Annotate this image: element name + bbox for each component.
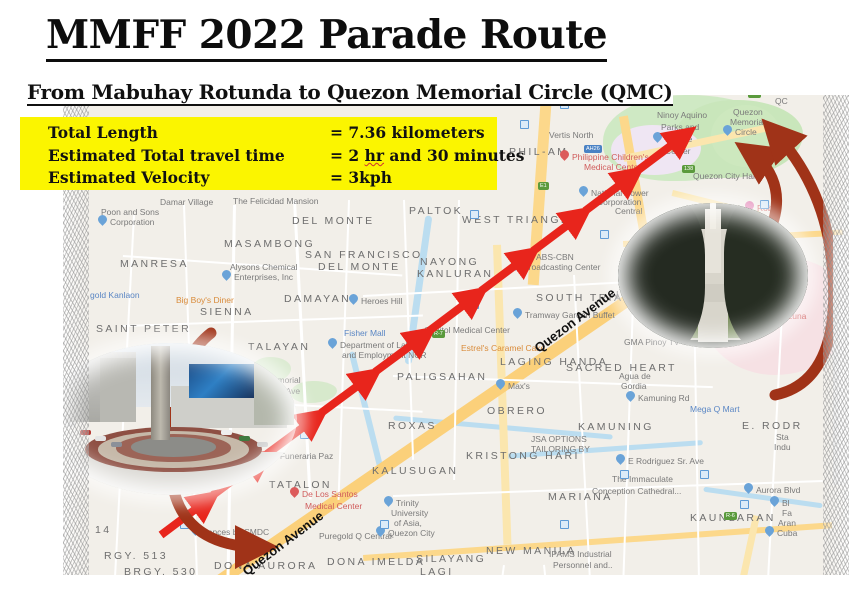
map-route-shield: 170 (748, 95, 761, 98)
stat-value: = 7.36 kilometers (330, 123, 485, 142)
map-transit-square-icon[interactable] (470, 210, 479, 219)
page-title: MMFF 2022 Parade Route (46, 12, 607, 62)
map-transit-square-icon[interactable] (520, 120, 529, 129)
stat-label: Estimated Velocity (48, 168, 209, 187)
stat-label: Estimated Total travel time (48, 146, 285, 165)
map-route-shield: R-7 (432, 330, 445, 338)
map-transit-square-icon[interactable] (700, 470, 709, 479)
street (123, 255, 402, 277)
stat-value-pre: = 2 (330, 146, 365, 165)
street (393, 375, 713, 388)
park-green-small-1 (291, 381, 337, 403)
map-transit-square-icon[interactable] (420, 330, 429, 339)
map-transit-square-icon[interactable] (740, 500, 749, 509)
photo-quezon-memorial-circle (618, 203, 808, 348)
map-transit-square-icon[interactable] (300, 430, 309, 439)
stat-value-post: and 30 minutes (384, 146, 524, 165)
page-subtitle: From Mabuhay Rotunda to Quezon Memorial … (27, 80, 673, 106)
infographic-root: MANRESAMASAMBONGDEL MONTESAN FRANCISCODE… (0, 0, 866, 591)
stat-value-squiggle: hr (365, 146, 384, 165)
road-e-rodriguez (363, 522, 832, 561)
map-route-shield: 138 (682, 165, 695, 173)
creek-5 (703, 487, 823, 509)
map-transit-square-icon[interactable] (620, 470, 629, 479)
stat-row: Estimated Velocity = 3kph (48, 168, 491, 190)
map-route-shield: R-6 (724, 512, 737, 520)
map-route-shield: AH26 (584, 145, 602, 153)
street (123, 315, 423, 327)
stat-value: = 3kph (330, 168, 392, 187)
map-overlay-panel (833, 235, 849, 485)
stat-value: = 2 hr and 30 minutes (330, 146, 525, 165)
map-route-shield: E1 (538, 182, 549, 190)
map-transit-square-icon[interactable] (380, 520, 389, 529)
road-aurora-blvd (720, 515, 760, 575)
stat-row: Estimated Total travel time = 2 hr and 3… (48, 146, 491, 168)
stat-label: Total Length (48, 123, 158, 142)
street (543, 565, 556, 575)
route-stats-box: Total Length = 7.36 kilometers Estimated… (20, 117, 497, 190)
map-transit-square-icon[interactable] (180, 520, 189, 529)
map-transit-square-icon[interactable] (560, 520, 569, 529)
map-transit-square-icon[interactable] (600, 230, 609, 239)
photo-mabuhay-rotunda (63, 343, 297, 495)
street (488, 565, 505, 575)
street (338, 200, 350, 500)
street (453, 200, 460, 480)
creek-4 (503, 440, 703, 459)
stat-row: Total Length = 7.36 kilometers (48, 123, 491, 145)
road-edsa (528, 95, 552, 285)
map-transit-square-icon[interactable] (470, 300, 479, 309)
